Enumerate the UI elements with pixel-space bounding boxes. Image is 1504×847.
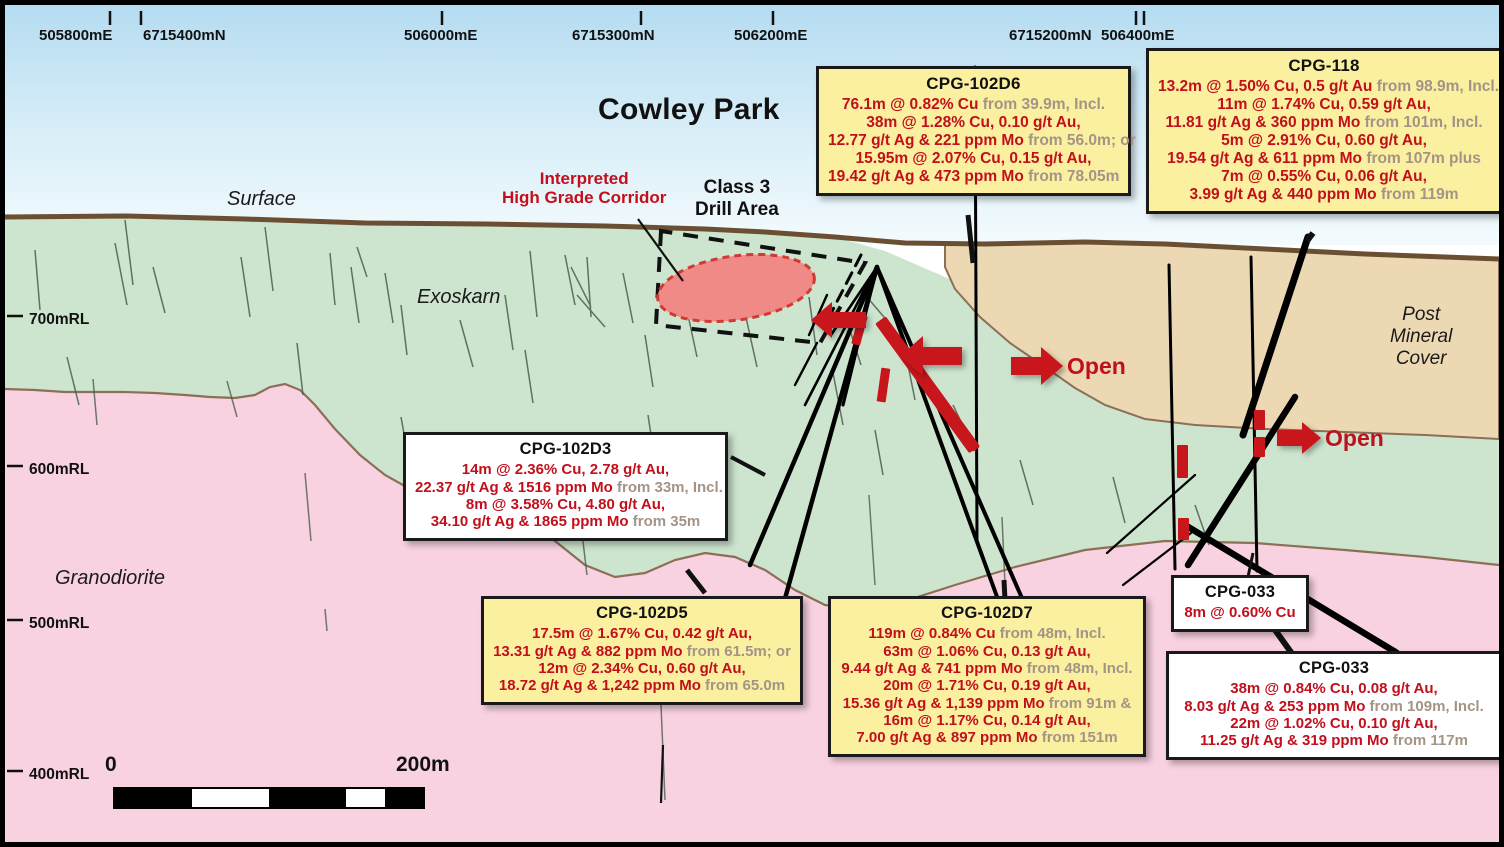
callout-cpg-102d7[interactable]: CPG-102D7119m @ 0.84% Cu from 48m, Incl.… [828, 596, 1146, 757]
surface-label: Surface [227, 188, 296, 211]
callout-line: 19.42 g/t Ag & 473 ppm Mo from 78.05m [828, 168, 1119, 186]
callout-line: 12m @ 2.34% Cu, 0.60 g/t Au, [493, 660, 791, 677]
axis-label-700mRL: 700mRL [29, 311, 89, 329]
callout-from-text: from 48m, Incl. [996, 625, 1106, 642]
callout-from-text: from 117m [1389, 732, 1468, 749]
callout-header: CPG-102D3 [415, 440, 716, 459]
callout-assay-text: 13.31 g/t Ag & 882 ppm Mo [493, 643, 683, 660]
class3-drill-area-label: Class 3 Drill Area [695, 177, 779, 221]
callout-line: 119m @ 0.84% Cu from 48m, Incl. [840, 625, 1134, 642]
callout-assay-text: 9.44 g/t Ag & 741 ppm Mo [841, 660, 1022, 677]
callout-assay-text: 63m @ 1.06% Cu, 0.13 g/t Au, [883, 643, 1090, 660]
callout-assay-text: 12m @ 2.34% Cu, 0.60 g/t Au, [538, 660, 745, 677]
intercept-r4 [1178, 518, 1189, 540]
axis-label-400mRL: 400mRL [29, 766, 89, 784]
callout-cpg-118[interactable]: CPG-11813.2m @ 1.50% Cu, 0.5 g/t Au from… [1146, 48, 1502, 214]
scale-bar-end-label: 200m [396, 753, 450, 777]
callout-assay-text: 16m @ 1.17% Cu, 0.14 g/t Au, [883, 712, 1090, 729]
callout-from-text: from 151m [1038, 729, 1118, 746]
callout-line: 15.36 g/t Ag & 1,139 ppm Mo from 91m & [840, 695, 1134, 712]
callout-from-text: from 61.5m; or [683, 643, 791, 660]
callout-line: 15.95m @ 2.07% Cu, 0.15 g/t Au, [828, 150, 1119, 168]
intercept-r1 [1254, 410, 1265, 430]
callout-assay-text: 5m @ 2.91% Cu, 0.60 g/t Au, [1221, 132, 1427, 149]
callout-line: 22.37 g/t Ag & 1516 ppm Mo from 33m, Inc… [415, 479, 716, 496]
class3-line-2: Drill Area [695, 199, 779, 221]
callout-assay-text: 7.00 g/t Ag & 897 ppm Mo [856, 729, 1037, 746]
axis-label-506400mE: 506400mE [1101, 27, 1174, 44]
callout-from-text: from 35m [629, 513, 701, 530]
callout-assay-text: 34.10 g/t Ag & 1865 ppm Mo [431, 513, 629, 530]
callout-line: 8m @ 0.60% Cu [1183, 604, 1297, 621]
callout-line: 13.31 g/t Ag & 882 ppm Mo from 61.5m; or [493, 643, 791, 660]
callout-cpg-102d5[interactable]: CPG-102D517.5m @ 1.67% Cu, 0.42 g/t Au,1… [481, 596, 803, 705]
callout-line: 8m @ 3.58% Cu, 4.80 g/t Au, [415, 496, 716, 513]
callout-assay-text: 76.1m @ 0.82% Cu [842, 96, 979, 113]
pmc-line-1: Post [1390, 304, 1452, 326]
callout-from-text: from 109m, Incl. [1365, 698, 1483, 715]
intercept-r3 [1177, 445, 1188, 478]
callout-line: 5m @ 2.91% Cu, 0.60 g/t Au, [1158, 132, 1490, 150]
pmc-line-3: Cover [1390, 348, 1452, 370]
callout-assay-text: 18.72 g/t Ag & 1,242 ppm Mo [499, 677, 701, 694]
callout-line: 19.54 g/t Ag & 611 ppm Mo from 107m plus [1158, 150, 1490, 168]
callout-from-text: from 119m [1377, 186, 1459, 203]
callout-cpg-033-small[interactable]: CPG-0338m @ 0.60% Cu [1171, 575, 1309, 632]
callout-assay-text: 14m @ 2.36% Cu, 2.78 g/t Au, [462, 461, 669, 478]
callout-from-text: from 91m & [1045, 695, 1132, 712]
callout-line: 7.00 g/t Ag & 897 ppm Mo from 151m [840, 729, 1134, 746]
class3-line-1: Class 3 [695, 177, 779, 199]
axis-label-600mRL: 600mRL [29, 461, 89, 479]
pmc-line-2: Mineral [1390, 326, 1452, 348]
granodiorite-label: Granodiorite [55, 567, 165, 590]
callout-assay-text: 119m @ 0.84% Cu [868, 625, 995, 642]
hgc-line-1: Interpreted [502, 170, 666, 189]
callout-assay-text: 12.77 g/t Ag & 221 ppm Mo [828, 132, 1024, 149]
callout-header: CPG-033 [1183, 583, 1297, 602]
callout-assay-text: 19.42 g/t Ag & 473 ppm Mo [828, 168, 1024, 185]
callout-line: 9.44 g/t Ag & 741 ppm Mo from 48m, Incl. [840, 660, 1134, 677]
figure-title: Cowley Park [598, 93, 780, 127]
callout-from-text: from 78.05m [1024, 168, 1120, 185]
callout-assay-text: 15.36 g/t Ag & 1,139 ppm Mo [843, 695, 1045, 712]
callout-assay-text: 8.03 g/t Ag & 253 ppm Mo [1184, 698, 1365, 715]
callout-assay-text: 8m @ 0.60% Cu [1184, 604, 1295, 621]
callout-line: 8.03 g/t Ag & 253 ppm Mo from 109m, Incl… [1178, 698, 1490, 715]
callout-from-text: from 33m, Incl. [613, 479, 723, 496]
callout-line: 16m @ 1.17% Cu, 0.14 g/t Au, [840, 712, 1134, 729]
callout-assay-text: 22m @ 1.02% Cu, 0.10 g/t Au, [1230, 715, 1437, 732]
callout-assay-text: 3.99 g/t Ag & 440 ppm Mo [1189, 186, 1376, 203]
callout-line: 38m @ 0.84% Cu, 0.08 g/t Au, [1178, 680, 1490, 697]
callout-line: 14m @ 2.36% Cu, 2.78 g/t Au, [415, 461, 716, 478]
callout-header: CPG-033 [1178, 659, 1490, 678]
callout-assay-text: 11.81 g/t Ag & 360 ppm Mo [1165, 114, 1360, 131]
callout-assay-text: 11.25 g/t Ag & 319 ppm Mo [1200, 732, 1389, 749]
callout-from-text: from 65.0m [701, 677, 785, 694]
axis-label-506200mE: 506200mE [734, 27, 807, 44]
intercept-r2 [1254, 437, 1265, 457]
callout-line: 7m @ 0.55% Cu, 0.06 g/t Au, [1158, 168, 1490, 186]
callout-line: 22m @ 1.02% Cu, 0.10 g/t Au, [1178, 715, 1490, 732]
axis-label-505800mE: 505800mE [39, 27, 112, 44]
callout-line: 12.77 g/t Ag & 221 ppm Mo from 56.0m; or [828, 132, 1119, 150]
hgc-line-2: High Grade Corridor [502, 189, 666, 208]
callout-assay-text: 15.95m @ 2.07% Cu, 0.15 g/t Au, [856, 150, 1092, 167]
callout-assay-text: 22.37 g/t Ag & 1516 ppm Mo [415, 479, 613, 496]
callout-cpg-033-large[interactable]: CPG-03338m @ 0.84% Cu, 0.08 g/t Au,8.03 … [1166, 651, 1502, 760]
scale-bar-start-label: 0 [105, 753, 117, 777]
callout-assay-text: 17.5m @ 1.67% Cu, 0.42 g/t Au, [532, 625, 752, 642]
cross-section-figure: 505800mE 6715400mN 506000mE 6715300mN 50… [0, 0, 1504, 847]
exoskarn-label: Exoskarn [417, 286, 500, 309]
callout-from-text: from 48m, Incl. [1023, 660, 1133, 677]
axis-label-6715300mN: 6715300mN [572, 27, 655, 44]
callout-cpg-102d3[interactable]: CPG-102D314m @ 2.36% Cu, 2.78 g/t Au,22.… [403, 432, 728, 541]
callout-from-text: from 107m plus [1362, 150, 1481, 167]
callout-header: CPG-118 [1158, 56, 1490, 76]
callout-from-text: from 56.0m; or [1024, 132, 1136, 149]
callout-assay-text: 13.2m @ 1.50% Cu, 0.5 g/t Au [1158, 78, 1372, 95]
axis-label-6715400mN: 6715400mN [143, 27, 226, 44]
axis-label-500mRL: 500mRL [29, 615, 89, 633]
callout-assay-text: 11m @ 1.74% Cu, 0.59 g/t Au, [1217, 96, 1431, 113]
open-label-left: Open [1067, 353, 1126, 380]
callout-line: 17.5m @ 1.67% Cu, 0.42 g/t Au, [493, 625, 791, 642]
callout-header: CPG-102D7 [840, 604, 1134, 623]
axis-label-506000mE: 506000mE [404, 27, 477, 44]
callout-from-text: from 39.9m, Incl. [978, 96, 1105, 113]
callout-assay-text: 20m @ 1.71% Cu, 0.19 g/t Au, [883, 677, 1090, 694]
callout-assay-text: 19.54 g/t Ag & 611 ppm Mo [1167, 150, 1362, 167]
scale-bar [113, 787, 425, 809]
callout-line: 20m @ 1.71% Cu, 0.19 g/t Au, [840, 677, 1134, 694]
callout-line: 11.81 g/t Ag & 360 ppm Mo from 101m, Inc… [1158, 114, 1490, 132]
callout-line: 76.1m @ 0.82% Cu from 39.9m, Incl. [828, 96, 1119, 114]
callout-assay-text: 38m @ 0.84% Cu, 0.08 g/t Au, [1230, 680, 1437, 697]
callout-assay-text: 7m @ 0.55% Cu, 0.06 g/t Au, [1221, 168, 1427, 185]
callout-line: 18.72 g/t Ag & 1,242 ppm Mo from 65.0m [493, 677, 791, 694]
callout-assay-text: 38m @ 1.28% Cu, 0.10 g/t Au, [866, 114, 1080, 131]
callout-line: 34.10 g/t Ag & 1865 ppm Mo from 35m [415, 513, 716, 530]
open-label-right: Open [1325, 425, 1384, 452]
callout-line: 11m @ 1.74% Cu, 0.59 g/t Au, [1158, 96, 1490, 114]
callout-from-text: from 98.9m, Incl. [1372, 78, 1499, 95]
callout-header: CPG-102D6 [828, 74, 1119, 94]
post-mineral-cover-label: Post Mineral Cover [1390, 304, 1452, 370]
callout-header: CPG-102D5 [493, 604, 791, 623]
callout-line: 38m @ 1.28% Cu, 0.10 g/t Au, [828, 114, 1119, 132]
high-grade-corridor-label: Interpreted High Grade Corridor [502, 170, 666, 207]
callout-line: 11.25 g/t Ag & 319 ppm Mo from 117m [1178, 732, 1490, 749]
callout-line: 13.2m @ 1.50% Cu, 0.5 g/t Au from 98.9m,… [1158, 78, 1490, 96]
callout-from-text: from 101m, Incl. [1360, 114, 1482, 131]
callout-cpg-102d6[interactable]: CPG-102D676.1m @ 0.82% Cu from 39.9m, In… [816, 66, 1131, 196]
callout-line: 3.99 g/t Ag & 440 ppm Mo from 119m [1158, 186, 1490, 204]
axis-label-6715200mN: 6715200mN [1009, 27, 1092, 44]
callout-line: 63m @ 1.06% Cu, 0.13 g/t Au, [840, 643, 1134, 660]
callout-assay-text: 8m @ 3.58% Cu, 4.80 g/t Au, [466, 496, 665, 513]
